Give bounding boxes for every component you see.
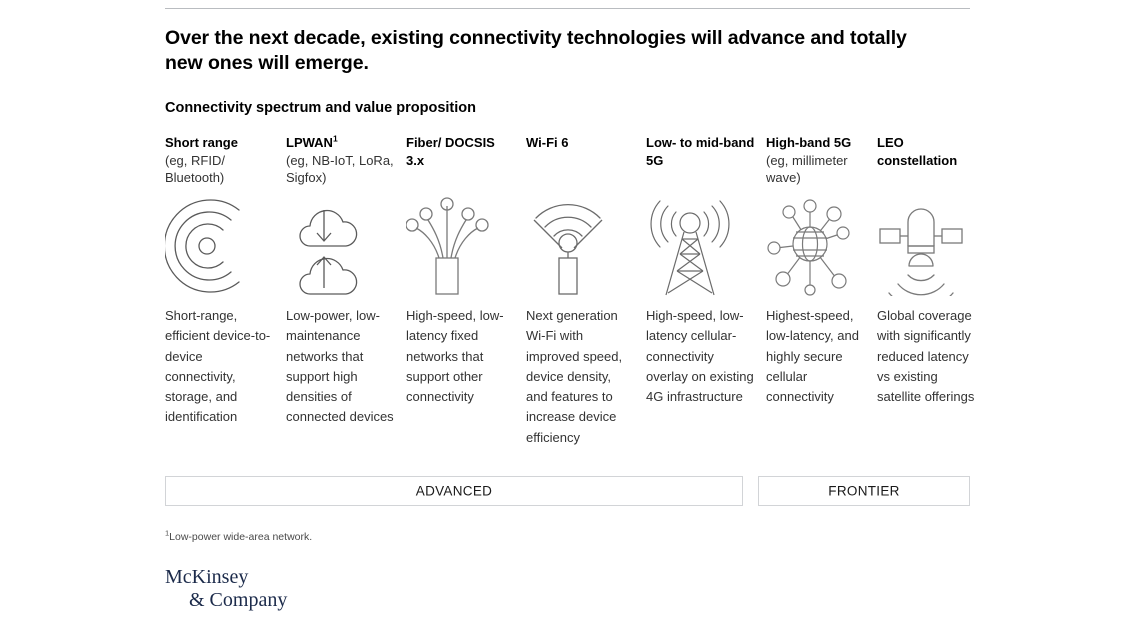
bracket-label-frontier: FRONTIER xyxy=(759,484,969,499)
column-subtitle: (eg, millimeter wave) xyxy=(766,153,848,186)
mckinsey-logo: McKinsey & Company xyxy=(165,566,287,612)
column-header-short-range: Short range (eg, RFID/ Bluetooth) xyxy=(165,134,275,187)
column-body-high-band-5g: Highest-speed, low-latency, and highly s… xyxy=(766,306,874,407)
column-header-fiber-docsis: Fiber/ DOCSIS 3.x xyxy=(406,134,516,169)
column-subtitle: (eg, RFID/ Bluetooth) xyxy=(165,153,225,186)
top-divider-rule xyxy=(165,8,970,9)
bracket-frontier: FRONTIER xyxy=(758,476,970,506)
footnote-marker: 1 xyxy=(333,134,338,144)
column-header-wifi6: Wi-Fi 6 xyxy=(526,134,636,152)
column-body-fiber-docsis: High-speed, low-latency fixed networks t… xyxy=(406,306,514,407)
column-low-mid-band-5g: Low- to mid-band 5G xyxy=(646,134,756,169)
column-body-lpwan: Low-power, low-maintenance networks that… xyxy=(286,306,394,428)
column-lpwan: LPWAN1 (eg, NB-IoT, LoRa, Sigfox) Low-po… xyxy=(286,134,396,187)
column-header-lpwan: LPWAN1 (eg, NB-IoT, LoRa, Sigfox) xyxy=(286,134,396,187)
fiber-optic-cable-icon xyxy=(406,196,516,296)
cell-tower-icon xyxy=(646,196,756,296)
column-title: LPWAN xyxy=(286,135,333,150)
column-header-low-mid-band-5g: Low- to mid-band 5G xyxy=(646,134,756,169)
globe-network-icon xyxy=(766,196,876,296)
column-body-low-mid-band-5g: High-speed, low-latency cellular-connect… xyxy=(646,306,754,407)
column-leo-constellation: LEO constellation Global coverage with s… xyxy=(877,134,987,169)
column-body-short-range: Short-range, efficient device-to-device … xyxy=(165,306,273,428)
page-title: Over the next decade, existing connectiv… xyxy=(165,26,935,76)
bracket-advanced: ADVANCED xyxy=(165,476,743,506)
footnote: 1Low-power wide-area network. xyxy=(165,530,312,544)
logo-line-1: McKinsey xyxy=(165,566,287,589)
column-subtitle: (eg, NB-IoT, LoRa, Sigfox) xyxy=(286,153,394,186)
column-header-high-band-5g: High-band 5G (eg, millimeter wave) xyxy=(766,134,876,187)
column-header-leo-constellation: LEO constellation xyxy=(877,134,987,169)
column-title: Short range xyxy=(165,135,238,150)
column-body-leo-constellation: Global coverage with significantly reduc… xyxy=(877,306,985,407)
logo-line-2: & Company xyxy=(165,589,287,612)
satellite-icon xyxy=(877,196,987,296)
wireless-signal-icon xyxy=(165,196,275,296)
cloud-download-upload-icon xyxy=(286,196,396,296)
infographic-page: Over the next decade, existing connectiv… xyxy=(0,0,1140,640)
column-short-range: Short range (eg, RFID/ Bluetooth) Short-… xyxy=(165,134,275,187)
column-body-wifi6: Next generation Wi-Fi with improved spee… xyxy=(526,306,634,448)
wifi-router-icon xyxy=(526,196,636,296)
columns-container: Short range (eg, RFID/ Bluetooth) Short-… xyxy=(165,134,995,474)
footnote-text: Low-power wide-area network. xyxy=(169,531,312,543)
column-title: High-band 5G xyxy=(766,135,851,150)
column-wifi6: Wi-Fi 6 Next generation Wi-Fi with impro… xyxy=(526,134,636,152)
chart-subtitle: Connectivity spectrum and value proposit… xyxy=(165,99,865,117)
bracket-label-advanced: ADVANCED xyxy=(166,484,742,499)
column-high-band-5g: High-band 5G (eg, millimeter wave) xyxy=(766,134,876,187)
column-fiber-docsis: Fiber/ DOCSIS 3.x High-speed, low-latenc… xyxy=(406,134,516,169)
